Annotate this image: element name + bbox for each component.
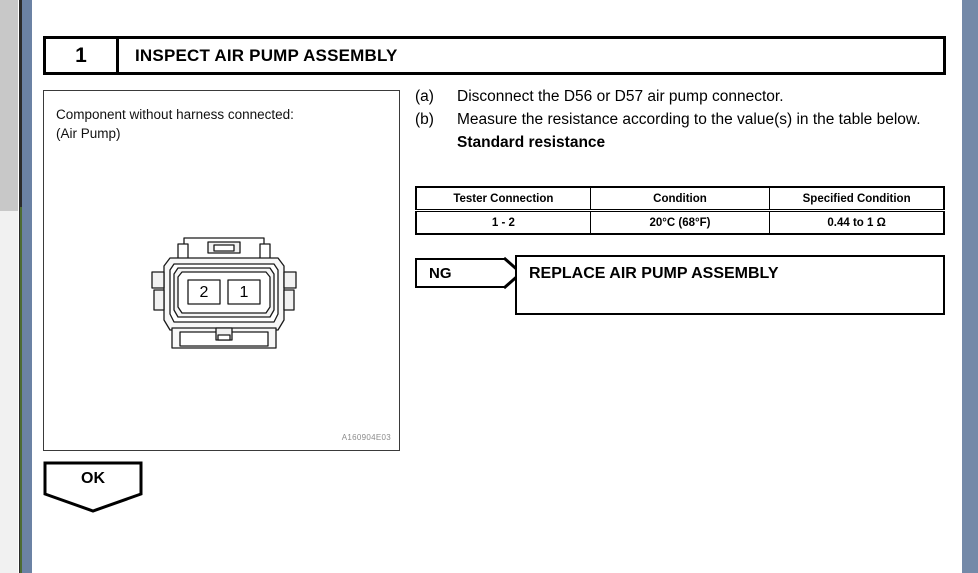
cell-condition: 20°C (68°F) xyxy=(590,211,770,235)
table-header-row: Tester Connection Condition Specified Co… xyxy=(416,187,944,211)
standard-resistance-heading: Standard resistance xyxy=(457,132,955,154)
illustration-caption: Component without harness connected: (Ai… xyxy=(56,105,294,143)
procedure-item-a: (a) Disconnect the D56 or D57 air pump c… xyxy=(415,86,955,108)
manual-page: 1 INSPECT AIR PUMP ASSEMBLY Component wi… xyxy=(32,0,962,573)
procedure-marker: (b) xyxy=(415,109,457,131)
step-number: 1 xyxy=(46,39,119,72)
ng-result-box: REPLACE AIR PUMP ASSEMBLY xyxy=(515,255,945,315)
procedure-text: Disconnect the D56 or D57 air pump conne… xyxy=(457,86,955,108)
page-edge-right xyxy=(962,0,978,573)
procedure-text: Measure the resistance according to the … xyxy=(457,109,955,131)
step-header: 1 INSPECT AIR PUMP ASSEMBLY xyxy=(43,36,946,75)
page-edge-left xyxy=(22,0,32,573)
ok-branch-label: OK xyxy=(43,461,143,497)
procedure-item-b: (b) Measure the resistance according to … xyxy=(415,109,955,131)
viewer-divider xyxy=(19,0,22,573)
step-title: INSPECT AIR PUMP ASSEMBLY xyxy=(119,39,943,72)
connector-pin-label-1: 1 xyxy=(240,284,249,301)
illustration-panel: Component without harness connected: (Ai… xyxy=(43,90,400,451)
connector-diagram: 2 1 xyxy=(144,236,304,351)
procedure-marker: (a) xyxy=(415,86,457,108)
viewer-divider-accent xyxy=(20,207,22,573)
connector-pin-label-2: 2 xyxy=(200,284,209,301)
column-header-specified-condition: Specified Condition xyxy=(770,187,944,211)
column-header-tester-connection: Tester Connection xyxy=(416,187,590,211)
specification-table: Tester Connection Condition Specified Co… xyxy=(415,186,945,235)
procedure-list: (a) Disconnect the D56 or D57 air pump c… xyxy=(415,86,955,154)
column-header-condition: Condition xyxy=(590,187,770,211)
ng-branch-tag: NG xyxy=(415,258,505,288)
cell-tester-connection: 1 - 2 xyxy=(416,211,590,235)
figure-code: A160904E03 xyxy=(342,433,391,442)
table-row: 1 - 2 20°C (68°F) 0.44 to 1 Ω xyxy=(416,211,944,235)
vertical-scrollbar-thumb[interactable] xyxy=(0,0,18,211)
cell-specified-condition: 0.44 to 1 Ω xyxy=(770,211,944,235)
